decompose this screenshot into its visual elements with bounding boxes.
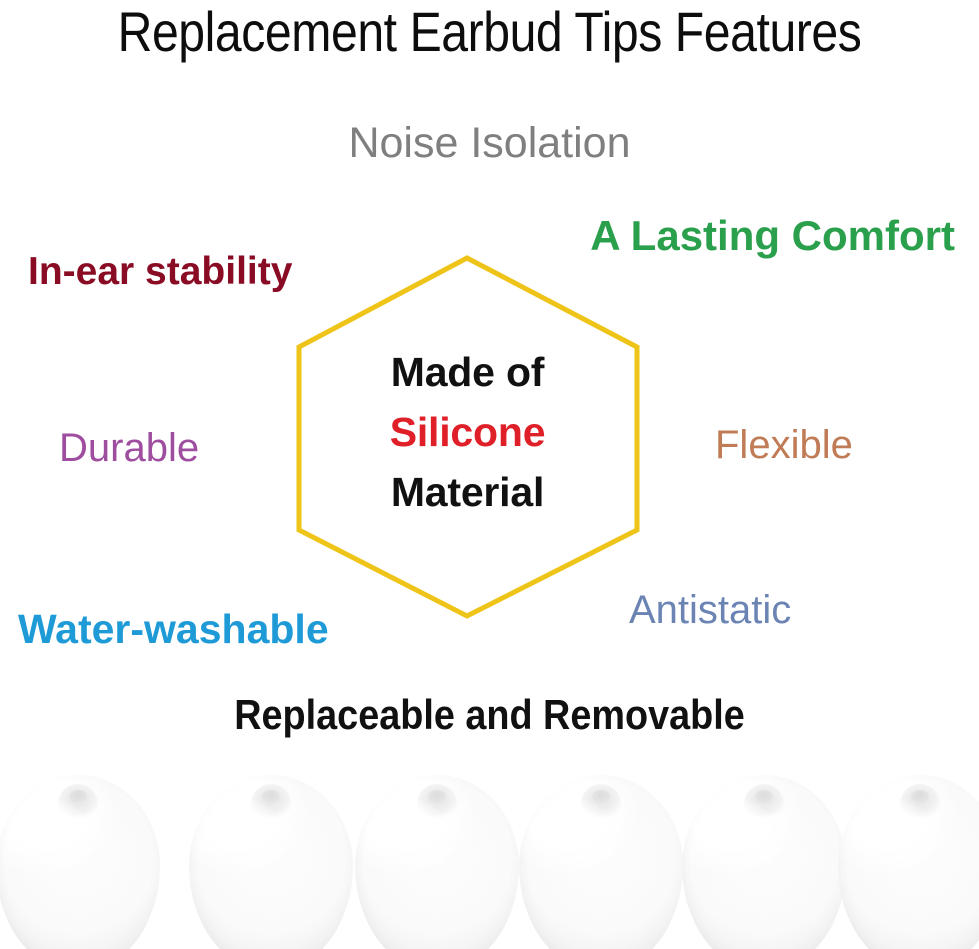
earbud-tip-hole (428, 790, 446, 803)
earbud-tip-highlight (215, 800, 277, 851)
feature-label-noise-isolation: Noise Isolation (0, 122, 979, 165)
earbud-tip-item (838, 775, 979, 949)
earbud-tip-highlight (864, 800, 926, 851)
earbud-tip-item (0, 775, 160, 949)
earbud-tip-highlight (22, 800, 84, 851)
feature-label-flexible: Flexible (715, 425, 853, 465)
earbud-tip-hole (755, 790, 773, 803)
feature-label-antistatic: Antistatic (629, 590, 791, 630)
earbud-tip-highlight (708, 800, 770, 851)
product-photo-earbud-tips (0, 775, 979, 949)
earbud-tip-hole (911, 790, 929, 803)
feature-label-in-ear-stability: In-ear stability (28, 252, 292, 291)
center-badge-text: Made of Silicone Material (298, 352, 637, 513)
page-title: Replacement Earbud Tips Features (69, 0, 911, 68)
earbud-tip-hole (592, 790, 610, 803)
earbud-tip-hole (262, 790, 280, 803)
earbud-tip-item (519, 775, 683, 949)
earbud-tip-highlight (381, 800, 443, 851)
center-badge-line-silicone: Silicone (298, 412, 637, 453)
feature-label-durable: Durable (59, 428, 199, 468)
feature-label-replaceable-and-removable: Replaceable and Removable (49, 694, 930, 736)
earbud-tip-item (682, 775, 846, 949)
center-badge-line-made-of: Made of (298, 352, 637, 393)
infographic-canvas: Replacement Earbud Tips Features Noise I… (0, 0, 979, 949)
earbud-tip-item (189, 775, 353, 949)
earbud-tip-hole (69, 790, 87, 803)
feature-label-water-washable: Water-washable (18, 609, 329, 650)
earbud-tip-highlight (545, 800, 607, 851)
earbud-tip-item (355, 775, 519, 949)
center-badge-line-material: Material (298, 472, 637, 513)
